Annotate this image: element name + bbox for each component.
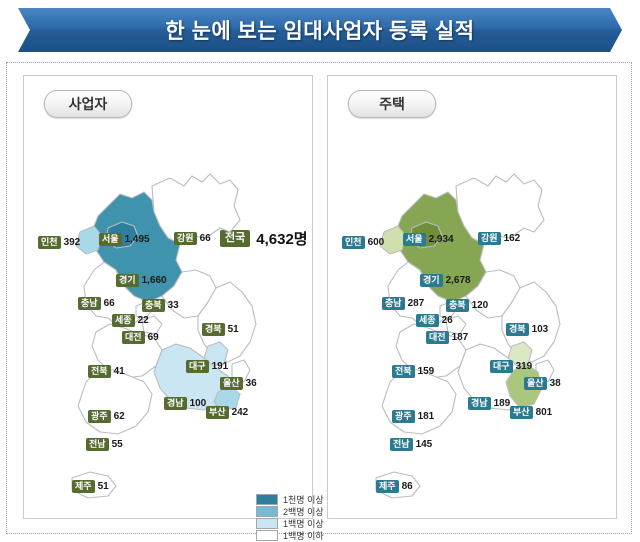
legend-business: 1천명 이상 2백명 이상 1백명 이상 1백명 이하 (256, 493, 324, 541)
label-daejeon-value: 187 (452, 332, 469, 343)
label-jeju-tag: 제주 (376, 480, 399, 493)
label-jeonbuk-value: 41 (114, 366, 125, 377)
label-chungnam: 충남 66 (78, 297, 115, 310)
legend-item: 2백명 이상 (256, 505, 324, 517)
label-gangwon-value: 66 (200, 233, 211, 244)
label-chungnam-value: 66 (104, 298, 115, 309)
label-gyeongbuk-tag: 경북 (202, 323, 225, 336)
label-seoul-value: 1,495 (125, 234, 150, 245)
label-chungnam-value: 287 (408, 298, 425, 309)
label-jeju-value: 51 (98, 481, 109, 492)
label-ulsan-value: 38 (550, 378, 561, 389)
panel-tab-business-label: 사업자 (69, 94, 108, 114)
label-jeonnam: 전남 145 (390, 438, 432, 451)
label-gyeonggi-value: 1,660 (142, 275, 167, 286)
label-daejeon-tag: 대전 (426, 331, 449, 344)
header-banner: 한 눈에 보는 임대사업자 등록 실적 (18, 8, 622, 52)
label-gyeonggi-value: 2,678 (446, 275, 471, 286)
legend-item: 1백명 이하 (256, 529, 324, 541)
label-gwangju-value: 62 (114, 411, 125, 422)
label-daegu: 대구 319 (490, 360, 532, 373)
label-seoul-tag: 서울 (403, 233, 426, 246)
label-daejeon: 대전 69 (122, 331, 159, 344)
label-incheon: 인천 392 (38, 236, 80, 249)
label-daejeon: 대전 187 (426, 331, 468, 344)
map-business-svg (24, 120, 314, 520)
label-jeonnam: 전남 55 (86, 438, 123, 451)
label-daegu-tag: 대구 (186, 360, 209, 373)
label-incheon-value: 600 (368, 237, 385, 248)
label-gyeongnam-value: 100 (190, 398, 207, 409)
label-gangwon-tag: 강원 (174, 232, 197, 245)
label-gangwon-value: 162 (504, 233, 521, 244)
legend-item: 1천명 이상 (256, 493, 324, 505)
label-seoul-value: 2,934 (429, 234, 454, 245)
label-sejong-value: 26 (442, 315, 453, 326)
label-incheon-value: 392 (64, 237, 81, 248)
label-gangwon: 강원 66 (174, 232, 211, 245)
label-gyeongnam: 경남 189 (468, 397, 510, 410)
label-gyeongbuk-value: 103 (532, 324, 549, 335)
label-daegu: 대구 191 (186, 360, 228, 373)
legend-swatch (256, 518, 278, 529)
label-incheon-tag: 인천 (342, 236, 365, 249)
legend-item: 1백명 이상 (256, 517, 324, 529)
label-gyeongnam-tag: 경남 (468, 397, 491, 410)
legend-label: 1백명 이하 (283, 529, 324, 542)
label-gyeonggi-tag: 경기 (420, 274, 443, 287)
label-gwangju-value: 181 (418, 411, 435, 422)
panel-business-operators: 사업자 전국 4,632명 (23, 75, 313, 519)
label-jeonnam-value: 55 (112, 439, 123, 450)
region-jeonnam (78, 370, 152, 434)
label-busan-tag: 부산 (510, 406, 533, 419)
label-gyeongnam: 경남 100 (164, 397, 206, 410)
label-chungbuk-value: 120 (472, 300, 489, 311)
label-chungbuk-tag: 충북 (142, 299, 165, 312)
legend-swatch (256, 506, 278, 517)
label-daejeon-value: 69 (148, 332, 159, 343)
label-gwangju-tag: 광주 (392, 410, 415, 423)
label-ulsan-tag: 울산 (524, 377, 547, 390)
label-chungbuk: 충북 33 (142, 299, 179, 312)
label-chungbuk-value: 33 (168, 300, 179, 311)
label-sejong-value: 22 (138, 315, 149, 326)
label-gwangju-tag: 광주 (88, 410, 111, 423)
legend-swatch (256, 530, 278, 541)
label-jeju: 제주 86 (376, 480, 413, 493)
label-daegu-tag: 대구 (490, 360, 513, 373)
label-seoul-tag: 서울 (99, 233, 122, 246)
label-busan: 부산 242 (206, 406, 248, 419)
label-jeonnam-tag: 전남 (390, 438, 413, 451)
panel-housing: 주택 전국 9,015호 (327, 75, 617, 519)
label-gyeongbuk: 경북 103 (506, 323, 548, 336)
label-jeonbuk-value: 159 (418, 366, 435, 377)
content-container: 사업자 전국 4,632명 (6, 62, 632, 534)
label-jeju-value: 86 (402, 481, 413, 492)
label-busan: 부산 801 (510, 406, 552, 419)
label-ulsan-tag: 울산 (220, 377, 243, 390)
label-gwangju: 광주 62 (88, 410, 125, 423)
label-gyeonggi-tag: 경기 (116, 274, 139, 287)
legend-swatch (256, 494, 278, 505)
label-jeonbuk: 전북 159 (392, 365, 434, 378)
label-gyeongnam-tag: 경남 (164, 397, 187, 410)
label-jeonbuk-tag: 전북 (88, 365, 111, 378)
panel-tab-housing-label: 주택 (379, 94, 405, 114)
infographic-page: 한 눈에 보는 임대사업자 등록 실적 사업자 전국 4,632명 (0, 0, 640, 542)
label-jeonnam-tag: 전남 (86, 438, 109, 451)
map-housing: 인천 600 서울 2,934 경기 2,678 강원 162 충남 287 (328, 120, 618, 520)
label-gyeongbuk: 경북 51 (202, 323, 239, 336)
label-incheon: 인천 600 (342, 236, 384, 249)
label-jeonnam-value: 145 (416, 439, 433, 450)
label-jeonbuk-tag: 전북 (392, 365, 415, 378)
label-gyeongnam-value: 189 (494, 398, 511, 409)
label-jeju: 제주 51 (72, 480, 109, 493)
page-title: 한 눈에 보는 임대사업자 등록 실적 (165, 15, 474, 45)
map-housing-svg (328, 120, 618, 520)
label-ulsan: 울산 38 (524, 377, 561, 390)
label-sejong: 세종 22 (112, 314, 149, 327)
label-chungbuk-tag: 충북 (446, 299, 469, 312)
label-busan-tag: 부산 (206, 406, 229, 419)
region-jeonnam (382, 370, 456, 434)
label-daegu-value: 191 (212, 361, 229, 372)
header-banner-shape: 한 눈에 보는 임대사업자 등록 실적 (18, 8, 622, 52)
label-gangwon: 강원 162 (478, 232, 520, 245)
label-sejong-tag: 세종 (112, 314, 135, 327)
label-ulsan-value: 36 (246, 378, 257, 389)
label-chungbuk: 충북 120 (446, 299, 488, 312)
label-daejeon-tag: 대전 (122, 331, 145, 344)
panel-tab-business[interactable]: 사업자 (44, 90, 132, 118)
label-gwangju: 광주 181 (392, 410, 434, 423)
label-gangwon-tag: 강원 (478, 232, 501, 245)
label-gyeongbuk-value: 51 (228, 324, 239, 335)
label-chungnam-tag: 충남 (78, 297, 101, 310)
label-gyeongbuk-tag: 경북 (506, 323, 529, 336)
label-jeonbuk: 전북 41 (88, 365, 125, 378)
label-seoul: 서울 2,934 (403, 233, 454, 246)
label-busan-value: 801 (536, 407, 553, 418)
label-jeju-tag: 제주 (72, 480, 95, 493)
label-busan-value: 242 (232, 407, 249, 418)
label-ulsan: 울산 36 (220, 377, 257, 390)
label-seoul: 서울 1,495 (99, 233, 150, 246)
label-chungnam-tag: 충남 (382, 297, 405, 310)
label-gyeonggi: 경기 2,678 (420, 274, 471, 287)
label-incheon-tag: 인천 (38, 236, 61, 249)
label-gyeonggi: 경기 1,660 (116, 274, 167, 287)
label-sejong: 세종 26 (416, 314, 453, 327)
panel-tab-housing[interactable]: 주택 (348, 90, 436, 118)
map-business: 인천 392 서울 1,495 경기 1,660 강원 66 충남 66 (24, 120, 314, 520)
label-chungnam: 충남 287 (382, 297, 424, 310)
label-daegu-value: 319 (516, 361, 533, 372)
label-sejong-tag: 세종 (416, 314, 439, 327)
